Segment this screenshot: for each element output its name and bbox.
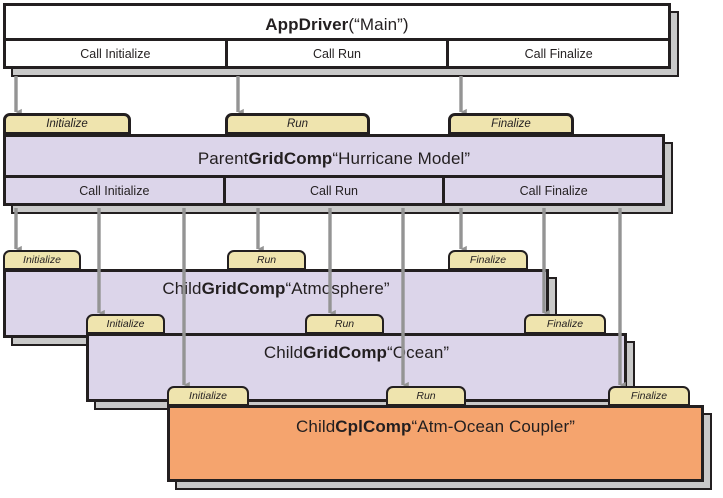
coupler-tab-run[interactable]: Run — [386, 386, 466, 406]
ocean-tab-finalize[interactable]: Finalize — [524, 314, 606, 334]
ocean-tab-run[interactable]: Run — [305, 314, 384, 334]
ocean-tab-run-label: Run — [335, 318, 354, 330]
ocean-tab-finalize-label: Finalize — [547, 318, 583, 330]
atmosphere-tab-finalize-label: Finalize — [470, 254, 506, 266]
coupler-tab-initialize-label: Initialize — [189, 390, 227, 402]
atmosphere-tab-run[interactable]: Run — [227, 250, 306, 270]
atmosphere-tab-initialize-label: Initialize — [23, 254, 61, 266]
parent-tab-finalize[interactable]: Finalize — [448, 113, 574, 135]
atmosphere-tab-run-label: Run — [257, 254, 276, 266]
coupler-tab-finalize-label: Finalize — [631, 390, 667, 402]
parent-tab-run-label: Run — [287, 118, 308, 130]
atmosphere-tab-initialize[interactable]: Initialize — [3, 250, 81, 270]
coupler-tab-finalize[interactable]: Finalize — [608, 386, 690, 406]
parent-tab-initialize[interactable]: Initialize — [3, 113, 131, 135]
parent-tab-finalize-label: Finalize — [491, 118, 531, 130]
ocean-tab-initialize[interactable]: Initialize — [86, 314, 165, 334]
arrow-layer — [0, 0, 723, 498]
parent-tab-run[interactable]: Run — [225, 113, 370, 135]
ocean-tab-initialize-label: Initialize — [107, 318, 145, 330]
coupler-tab-initialize[interactable]: Initialize — [167, 386, 249, 406]
atmosphere-tab-finalize[interactable]: Finalize — [448, 250, 528, 270]
diagram-canvas: AppDriver (“Main”) Call Initialize Call … — [0, 0, 723, 498]
coupler-tab-run-label: Run — [416, 390, 435, 402]
parent-tab-initialize-label: Initialize — [46, 118, 88, 130]
